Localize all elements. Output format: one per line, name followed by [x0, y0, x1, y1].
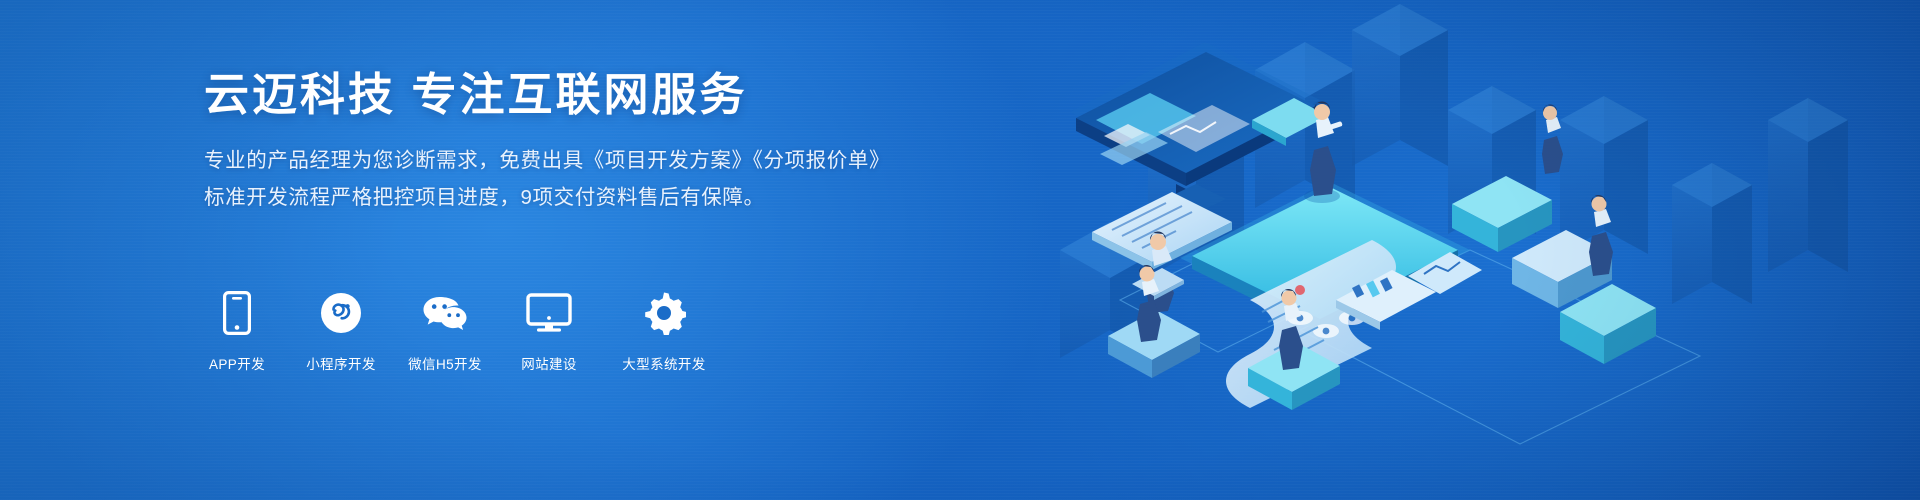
wechat-icon: [421, 290, 469, 336]
service-item-app[interactable]: APP开发: [200, 290, 274, 373]
mini-program-icon: [320, 290, 362, 336]
service-list: APP开发 小程序开发: [200, 290, 712, 373]
service-label: 网站建设: [521, 353, 577, 373]
subtitle-line-2: 标准开发流程严格把控项目进度，9项交付资料售后有保障。: [204, 180, 964, 216]
character-seated-right: [1542, 104, 1563, 174]
service-item-mini-program[interactable]: 小程序开发: [304, 290, 378, 373]
hero-copy: 云迈科技 专注互联网服务 专业的产品经理为您诊断需求，免费出具《项目开发方案》《…: [204, 68, 964, 216]
service-label: 微信H5开发: [408, 353, 482, 373]
hero-subtitle: 专业的产品经理为您诊断需求，免费出具《项目开发方案》《分项报价单》 标准开发流程…: [204, 143, 964, 216]
service-label: APP开发: [209, 353, 265, 373]
service-label: 大型系统开发: [622, 353, 705, 373]
service-label: 小程序开发: [306, 353, 376, 373]
illustration-isometric-data-platform: [1000, 0, 1920, 500]
subtitle-line-1: 专业的产品经理为您诊断需求，免费出具《项目开发方案》《分项报价单》: [204, 143, 964, 179]
gear-icon: [642, 290, 686, 336]
monitor-icon: [526, 290, 572, 336]
hero-banner: 云迈科技 专注互联网服务 专业的产品经理为您诊断需求，免费出具《项目开发方案》《…: [0, 0, 1920, 500]
service-item-website[interactable]: 网站建设: [512, 290, 586, 373]
service-item-wechat-h5[interactable]: 微信H5开发: [408, 290, 482, 373]
page-title: 云迈科技 专注互联网服务: [204, 68, 964, 121]
mobile-phone-icon: [223, 290, 251, 336]
service-item-large-system[interactable]: 大型系统开发: [616, 290, 712, 373]
